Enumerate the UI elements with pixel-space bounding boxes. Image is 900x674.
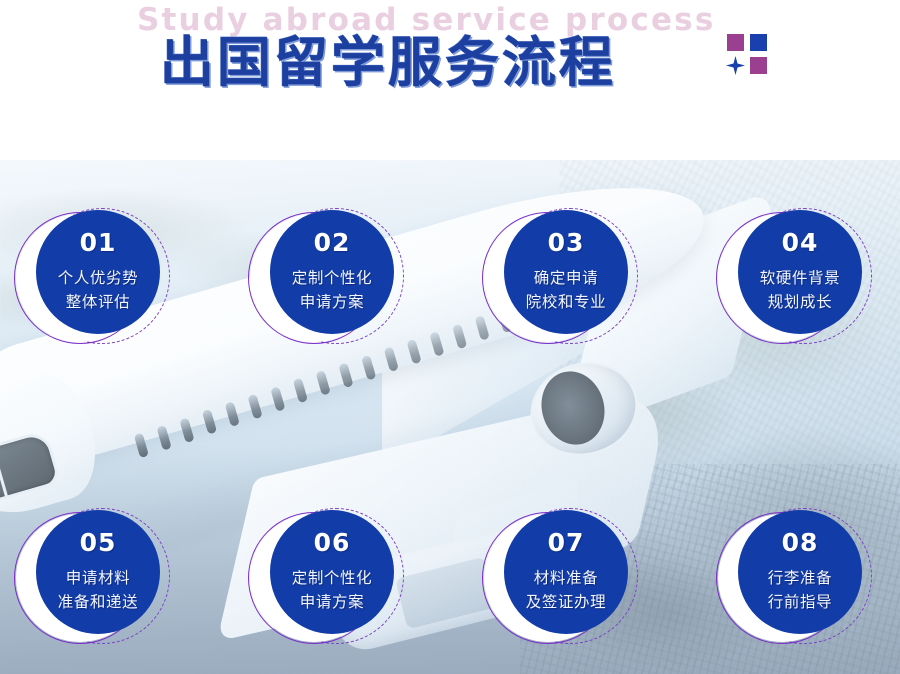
step-circle-08[interactable]: 08行李准备行前指导 bbox=[710, 496, 880, 666]
step-text-line-2: 申请方案 bbox=[300, 290, 364, 314]
step-disc: 05申请材料准备和递送 bbox=[36, 510, 160, 634]
cabin-window bbox=[225, 401, 240, 427]
step-text-line-2: 院校和专业 bbox=[526, 290, 607, 314]
blue-square-icon bbox=[750, 34, 767, 51]
purple-square-icon bbox=[750, 57, 767, 74]
step-text-line-2: 行前指导 bbox=[768, 590, 832, 614]
step-circle-02[interactable]: 02定制个性化申请方案 bbox=[242, 196, 412, 366]
page-title: 出国留学服务流程 bbox=[160, 18, 616, 97]
cabin-window bbox=[202, 409, 217, 435]
cabin-window bbox=[270, 386, 285, 412]
step-text-line-1: 定制个性化 bbox=[292, 266, 373, 290]
step-disc: 02定制个性化申请方案 bbox=[270, 210, 394, 334]
step-text-line-2: 规划成长 bbox=[768, 290, 832, 314]
step-circle-06[interactable]: 06定制个性化申请方案 bbox=[242, 496, 412, 666]
cabin-window bbox=[316, 370, 331, 396]
step-circle-03[interactable]: 03确定申请院校和专业 bbox=[476, 196, 646, 366]
step-disc: 08行李准备行前指导 bbox=[738, 510, 862, 634]
step-disc: 07材料准备及签证办理 bbox=[504, 510, 628, 634]
step-text-line-2: 准备和递送 bbox=[58, 590, 139, 614]
purple-square-icon bbox=[727, 34, 744, 51]
cabin-window bbox=[247, 394, 262, 420]
step-disc: 04软硬件背景规划成长 bbox=[738, 210, 862, 334]
step-circle-04[interactable]: 04软硬件背景规划成长 bbox=[710, 196, 880, 366]
step-number: 04 bbox=[782, 230, 819, 255]
infographic-page: Study abroad service process 出国留学服务流程 bbox=[0, 0, 900, 674]
step-disc: 03确定申请院校和专业 bbox=[504, 210, 628, 334]
step-text-line-1: 确定申请 bbox=[534, 266, 598, 290]
decorative-motif bbox=[727, 34, 771, 78]
step-circle-01[interactable]: 01个人优劣势整体评估 bbox=[8, 196, 178, 366]
step-text-line-1: 申请材料 bbox=[66, 566, 130, 590]
step-text-line-2: 整体评估 bbox=[66, 290, 130, 314]
cabin-window bbox=[156, 425, 171, 451]
step-number: 06 bbox=[314, 530, 351, 555]
header-band: Study abroad service process 出国留学服务流程 bbox=[0, 0, 900, 160]
step-number: 01 bbox=[80, 230, 117, 255]
cabin-window bbox=[179, 417, 194, 443]
step-disc: 06定制个性化申请方案 bbox=[270, 510, 394, 634]
step-text-line-2: 及签证办理 bbox=[526, 590, 607, 614]
cabin-window bbox=[134, 433, 149, 459]
cabin-window bbox=[338, 362, 353, 388]
step-text-line-1: 材料准备 bbox=[534, 566, 598, 590]
step-text-line-2: 申请方案 bbox=[300, 590, 364, 614]
step-disc: 01个人优劣势整体评估 bbox=[36, 210, 160, 334]
step-number: 03 bbox=[548, 230, 585, 255]
step-text-line-1: 个人优劣势 bbox=[58, 266, 139, 290]
step-number: 07 bbox=[548, 530, 585, 555]
four-point-star-icon bbox=[726, 56, 745, 75]
step-number: 08 bbox=[782, 530, 819, 555]
step-circle-05[interactable]: 05申请材料准备和递送 bbox=[8, 496, 178, 666]
step-circle-07[interactable]: 07材料准备及签证办理 bbox=[476, 496, 646, 666]
step-text-line-1: 定制个性化 bbox=[292, 566, 373, 590]
cabin-window bbox=[429, 331, 444, 357]
step-number: 05 bbox=[80, 530, 117, 555]
cabin-window bbox=[293, 378, 308, 404]
step-text-line-1: 行李准备 bbox=[768, 566, 832, 590]
step-number: 02 bbox=[314, 230, 351, 255]
step-text-line-1: 软硬件背景 bbox=[760, 266, 841, 290]
cabin-window bbox=[452, 323, 467, 349]
